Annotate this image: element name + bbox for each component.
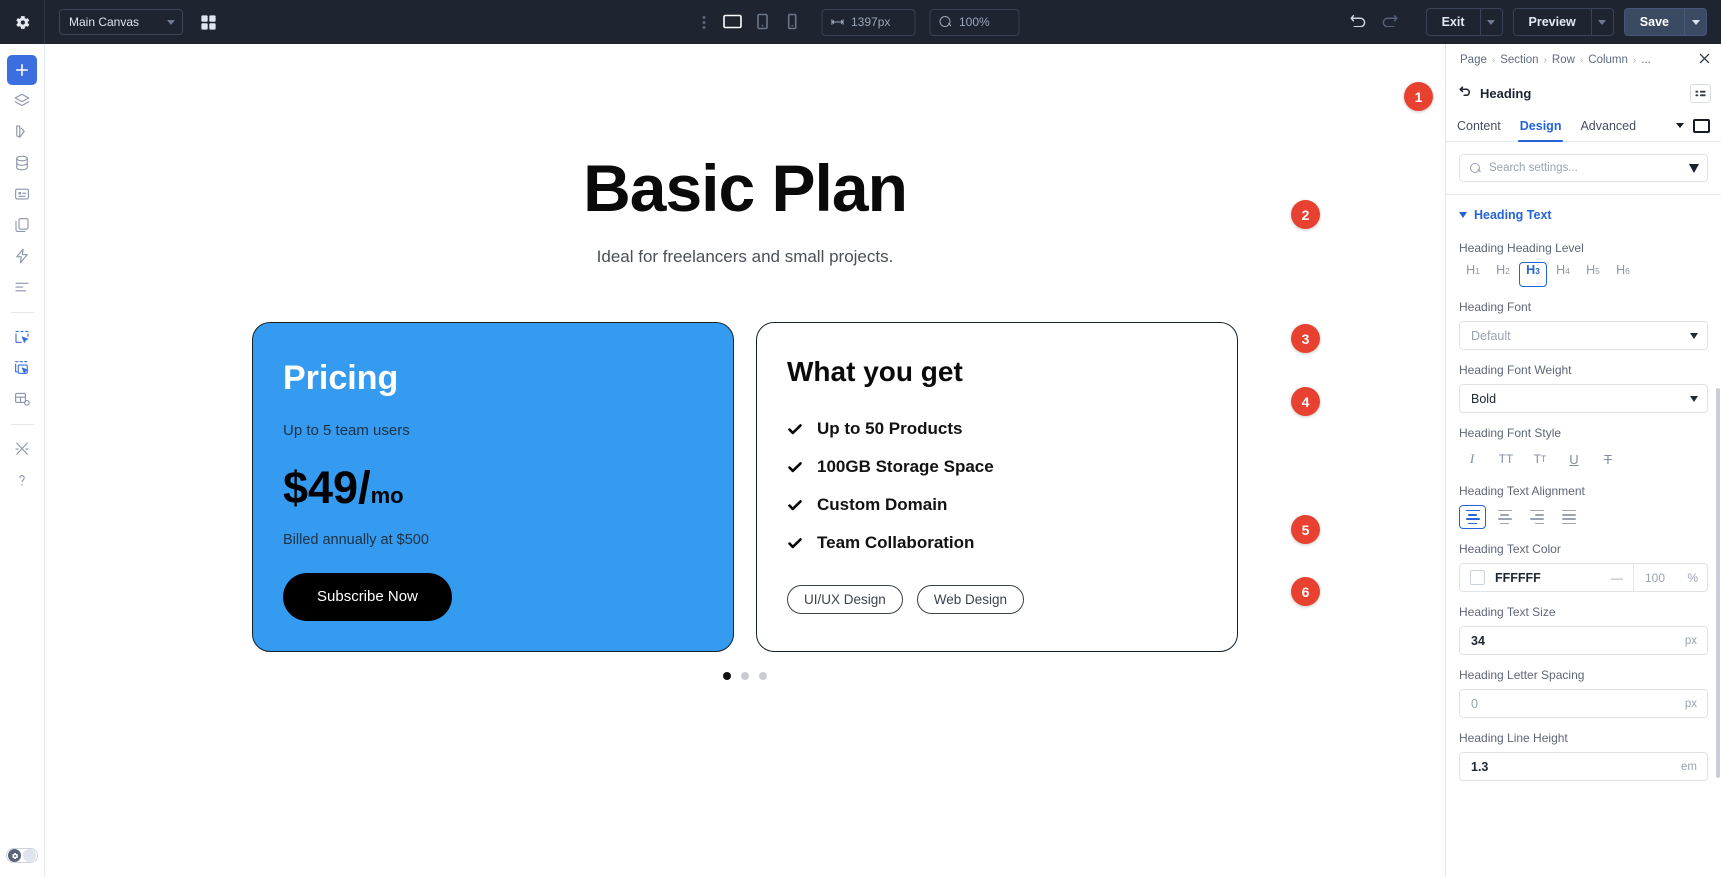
breadcrumb-item-overflow[interactable]: ... [1641,54,1651,66]
check-icon [787,459,803,475]
breakpoint-box-icon[interactable] [1693,119,1710,133]
carousel-dot-2[interactable] [741,672,749,680]
pricing-card-billed[interactable]: Billed annually at $500 [283,532,703,548]
color-swatch-group[interactable]: FFFFFF — [1460,564,1633,591]
feature-label: Up to 50 Products [817,419,962,439]
tab-design[interactable]: Design [1520,110,1562,141]
sidebar-item-grid-settings[interactable] [7,384,37,414]
heading-line-height-value: 1.3 [1471,760,1488,774]
sidebar-item-interactions[interactable] [7,241,37,271]
heading-line-height-label: Heading Line Height [1459,731,1708,745]
heading-text-size-label: Heading Text Size [1459,605,1708,619]
redo-icon[interactable] [1381,12,1398,32]
panel-scrollbar[interactable] [1716,388,1720,778]
breadcrumb-item-section[interactable]: Section [1500,54,1538,66]
pricing-card-heading[interactable]: Pricing [283,356,703,400]
pricing-card-price[interactable]: $49/mo [283,465,703,510]
chevron-down-icon [1690,396,1698,402]
heading-level-group: H1 H2 H3 H4 H5 H6 [1459,262,1708,287]
heading-line-height-unit[interactable]: em [1681,761,1697,773]
underline-icon[interactable]: U [1561,447,1587,471]
heading-level-h4-button[interactable]: H4 [1549,262,1577,287]
breadcrumb-item-row[interactable]: Row [1552,54,1575,66]
subscribe-now-button[interactable]: Subscribe Now [283,573,452,621]
tabs-extra-group [1676,119,1710,133]
heading-text-color-label: Heading Text Color [1459,542,1708,556]
back-arrow-icon[interactable] [1459,84,1471,102]
heading-letter-spacing-unit[interactable]: px [1685,698,1697,710]
section-heading-text[interactable]: Heading Text [1459,195,1708,228]
search-icon [939,16,951,28]
align-justify-icon[interactable] [1555,505,1582,529]
preview-dropdown-button[interactable] [1591,8,1614,36]
heading-level-h6-number: 6 [1625,266,1630,276]
carousel-dot-1[interactable] [723,672,731,680]
save-button-group[interactable]: Save [1624,8,1707,36]
page-title[interactable]: Basic Plan [583,152,907,225]
search-settings-box[interactable] [1459,154,1708,182]
canvas-width-field[interactable]: 1397px [821,9,915,36]
heading-text-size-field[interactable]: 34 px [1459,626,1708,655]
breadcrumb-separator: › [1544,55,1547,66]
search-input[interactable] [1489,162,1681,174]
canvas-selector[interactable]: Main Canvas [59,9,183,35]
heading-level-h1-number: 1 [1475,266,1480,276]
tab-content[interactable]: Content [1457,110,1501,141]
heading-font-style-label: Heading Font Style [1459,426,1708,440]
device-tablet-button[interactable] [747,8,777,36]
tag-list: UI/UX Design Web Design [787,585,1207,614]
chevron-down-icon [1459,212,1467,218]
layout-toggle-icon[interactable] [1690,84,1711,103]
heading-level-h3-button[interactable]: H3 [1519,262,1547,287]
heading-text-alignment-group [1459,505,1708,529]
heading-font-label: Heading Font [1459,300,1708,314]
preview-button-group[interactable]: Preview [1513,8,1614,36]
price-period: mo [371,483,404,508]
toolbar-left-group: Main Canvas [0,0,218,44]
heading-level-h1-button[interactable]: H1 [1459,262,1487,287]
filter-icon[interactable] [1689,164,1699,173]
toggle-knob [23,849,36,862]
color-hex-value[interactable]: FFFFFF [1495,571,1541,585]
step-badge-3: 3 [1291,324,1320,353]
zoom-field[interactable]: 100% [929,9,1019,36]
capitalize-icon[interactable]: TT [1527,447,1553,471]
heading-level-h3-number: 3 [1535,266,1540,276]
sidebar-item-help[interactable] [7,465,37,495]
price-amount: $49/ [283,462,371,513]
main-body: Basic Plan Ideal for freelancers and sma… [0,44,1721,877]
sidebar-item-data[interactable] [7,148,37,178]
carousel-dot-3[interactable] [759,672,767,680]
top-toolbar: Main Canvas 1397px [0,0,1721,44]
align-center-icon[interactable] [1491,505,1518,529]
exit-button[interactable]: Exit [1426,8,1480,36]
tag-chip[interactable]: UI/UX Design [787,585,903,614]
heading-level-h5-number: 5 [1595,266,1600,276]
heading-font-weight-value: Bold [1471,392,1496,406]
color-opacity-value: 100 [1645,571,1665,585]
chevron-down-icon [167,20,175,25]
preview-button[interactable]: Preview [1513,8,1591,36]
grid-icon[interactable] [199,13,218,32]
sidebar-divider [11,312,34,313]
pricing-card-users[interactable]: Up to 5 team users [283,422,703,439]
check-icon [787,497,803,513]
close-icon[interactable] [1698,52,1711,68]
check-icon [787,535,803,551]
chevron-down-icon [1598,20,1606,25]
feature-label: Custom Domain [817,495,947,515]
sidebar-divider [11,424,34,425]
settings-panel: Page › Section › Row › Column › ... Head… [1445,44,1721,877]
list-item[interactable]: Team Collaboration [787,533,1207,553]
heading-text-alignment-label: Heading Text Alignment [1459,484,1708,498]
heading-font-select[interactable]: Default [1459,321,1708,350]
save-dropdown-button[interactable] [1684,8,1707,36]
breadcrumb-separator: › [1492,55,1495,66]
chevron-down-icon [1692,20,1700,25]
sidebar-item-pages[interactable] [7,210,37,240]
search-icon [1470,163,1481,174]
undo-icon[interactable] [1350,12,1367,32]
sidebar-item-add-element[interactable] [7,55,37,85]
heading-level-h4-number: 4 [1565,266,1570,276]
pricing-cards-row: Pricing Up to 5 team users $49/mo Billed… [252,322,1238,652]
breadcrumb-separator: › [1580,55,1583,66]
step-badge-1: 1 [1404,82,1433,111]
features-card-heading[interactable]: What you get [787,356,1207,388]
heading-level-label: Heading Heading Level [1459,241,1708,255]
heading-text-size-unit[interactable]: px [1685,635,1697,647]
settings-scroll-area[interactable]: Heading Text Heading Heading Level H1 H2… [1446,188,1721,877]
gear-toggle-icon [8,849,21,862]
carousel-dots [723,672,767,680]
exit-button-group[interactable]: Exit [1426,8,1503,36]
sidebar-item-forms[interactable] [7,179,37,209]
heading-line-height-field[interactable]: 1.3 em [1459,752,1708,781]
check-icon [787,421,803,437]
page-builder-app: Main Canvas 1397px [0,0,1721,877]
canvas-width-value: 1397px [851,15,890,29]
color-opacity-unit: % [1687,571,1698,585]
undo-redo-group [1350,12,1398,32]
italic-icon[interactable]: I [1459,447,1485,471]
heading-level-h2-button[interactable]: H2 [1489,262,1517,287]
element-name: Heading [1480,86,1531,101]
device-mobile-button[interactable] [777,8,807,36]
tag-chip[interactable]: Web Design [917,585,1024,614]
sidebar-item-settings-list[interactable] [7,272,37,302]
toolbar-right-group: Exit Preview Save [1350,8,1721,36]
zoom-value: 100% [959,15,990,29]
list-item[interactable]: 100GB Storage Space [787,457,1207,477]
search-settings-area [1446,142,1721,188]
heading-font-weight-select[interactable]: Bold [1459,384,1708,413]
chevron-down-icon [1487,20,1495,25]
breadcrumb-item-column[interactable]: Column [1588,54,1628,66]
step-badge-6: 6 [1291,577,1320,606]
preview-mode-toggle[interactable] [6,848,38,863]
list-item[interactable]: Custom Domain [787,495,1207,515]
exit-dropdown-button[interactable] [1480,8,1503,36]
element-header: Heading [1446,76,1721,110]
step-badge-5: 5 [1291,515,1320,544]
device-desktop-button[interactable] [717,8,747,36]
section-title: Heading Text [1474,208,1552,222]
heading-font-style-group: I TT TT U T [1459,447,1708,471]
heading-font-value: Default [1471,329,1511,343]
step-badge-4: 4 [1291,387,1320,416]
chevron-down-icon[interactable] [1676,123,1684,128]
more-options-icon[interactable] [702,16,705,29]
canvas-selector-label: Main Canvas [69,15,139,29]
color-swatch[interactable] [1470,570,1485,585]
sidebar-item-select-element[interactable] [7,322,37,352]
color-opacity-field[interactable]: 100 % [1633,564,1707,591]
pricing-card[interactable]: Pricing Up to 5 team users $49/mo Billed… [252,322,734,652]
breadcrumb-separator: › [1633,55,1636,66]
sidebar-item-select-block[interactable] [7,353,37,383]
color-separator: — [1611,571,1623,585]
left-sidebar [0,44,45,877]
heading-level-h5-button[interactable]: H5 [1579,262,1607,287]
heading-level-h2-number: 2 [1505,266,1510,276]
heading-level-h6-button[interactable]: H6 [1609,262,1637,287]
sidebar-item-tools[interactable] [7,434,37,464]
design-canvas[interactable]: Basic Plan Ideal for freelancers and sma… [45,44,1445,877]
align-left-icon[interactable] [1459,505,1486,529]
feature-label: 100GB Storage Space [817,457,994,477]
list-item[interactable]: Up to 50 Products [787,419,1207,439]
chevron-down-icon [1690,333,1698,339]
step-badge-2: 2 [1291,200,1320,229]
feature-label: Team Collaboration [817,533,974,553]
sidebar-item-styles[interactable] [7,117,37,147]
page-subtitle[interactable]: Ideal for freelancers and small projects… [597,247,894,267]
strikethrough-icon[interactable]: T [1595,447,1621,471]
panel-tabs: Content Design Advanced [1446,110,1721,142]
gear-icon[interactable] [0,0,45,44]
heading-letter-spacing-label: Heading Letter Spacing [1459,668,1708,682]
sidebar-item-layers[interactable] [7,86,37,116]
align-right-icon[interactable] [1523,505,1550,529]
heading-font-weight-label: Heading Font Weight [1459,363,1708,377]
heading-letter-spacing-value: 0 [1471,697,1478,711]
features-card[interactable]: What you get Up to 50 Products 100GB Sto… [756,322,1238,652]
heading-letter-spacing-field[interactable]: 0 px [1459,689,1708,718]
breadcrumb-item-page[interactable]: Page [1460,54,1487,66]
heading-text-size-value: 34 [1471,634,1485,648]
toolbar-center-group: 1397px 100% [702,8,1019,36]
tab-advanced[interactable]: Advanced [1580,110,1636,141]
uppercase-icon[interactable]: TT [1493,447,1519,471]
save-button[interactable]: Save [1624,8,1684,36]
breadcrumb: Page › Section › Row › Column › ... [1446,44,1721,76]
heading-text-color-field[interactable]: FFFFFF — 100 % [1459,563,1708,592]
